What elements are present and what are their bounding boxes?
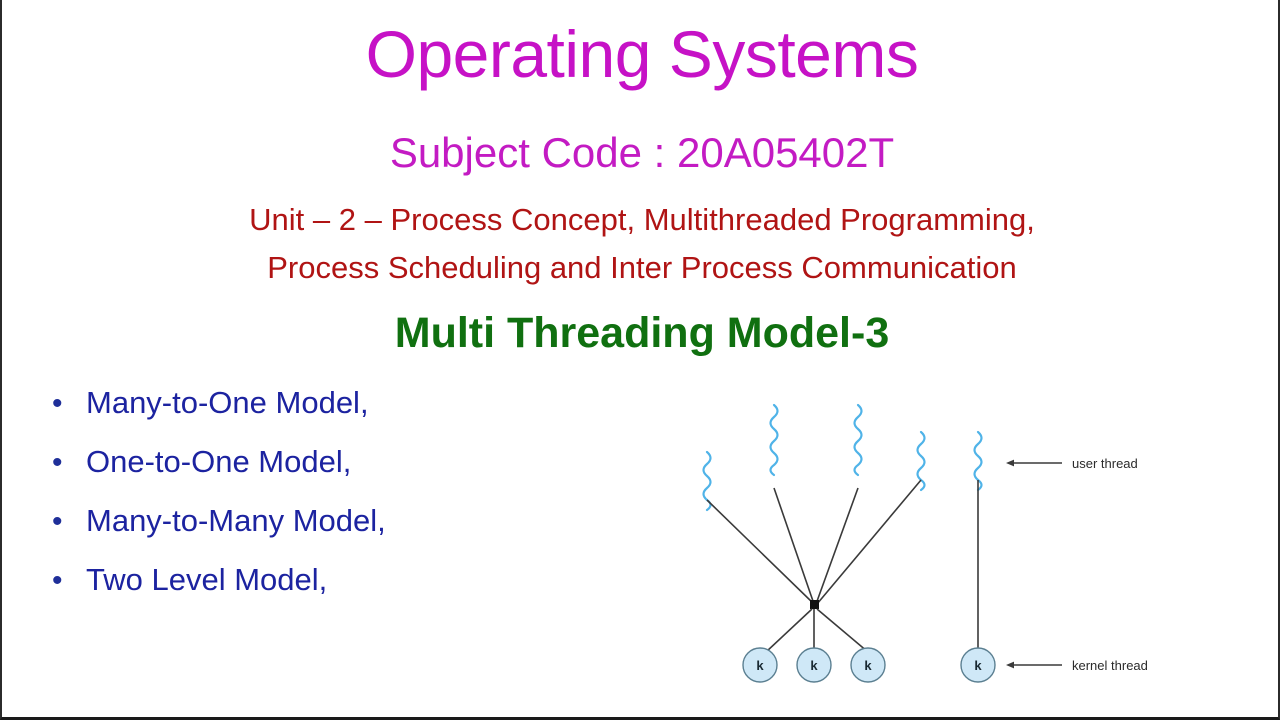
user-thread-stem-1 [707,500,814,604]
user-thread-stem-4 [817,480,921,604]
list-item-label: Many-to-One Model, [86,383,369,423]
user-thread-squiggles [704,405,982,510]
kernel-thread-arrow-head [1006,662,1014,669]
kernel-thread-nodes: k k k k [743,648,995,682]
kernel-link-3 [817,609,868,652]
user-thread-arrow-head [1006,460,1014,467]
list-item-label: One-to-One Model, [86,442,351,482]
user-thread-legend-label: user thread [1072,456,1138,471]
kernel-thread-links [766,609,868,652]
subject-code: Subject Code : 20A05402T [2,128,1280,178]
kernel-link-1 [766,609,812,652]
list-item-label: Many-to-Many Model, [86,501,386,541]
multiplex-junction [810,600,819,609]
bullet-icon: • [40,561,86,601]
unit-subtitle-line-1: Unit – 2 – Process Concept, Multithreade… [2,196,1280,244]
kernel-thread-node: k [851,648,885,682]
bullet-icon: • [40,502,86,542]
user-thread-stem-3 [816,488,858,604]
kernel-node-label-1: k [756,658,764,673]
unit-subtitle-line-2: Process Scheduling and Inter Process Com… [2,244,1280,292]
user-thread-squiggle-3 [855,405,862,475]
kernel-thread-node: k [797,648,831,682]
list-item: • Many-to-One Model, [40,383,600,442]
bullet-icon: • [40,443,86,483]
list-item: • Many-to-Many Model, [40,501,600,560]
model-heading: Multi Threading Model-3 [2,305,1280,361]
legend-arrows [1006,460,1062,669]
list-item: • One-to-One Model, [40,442,600,501]
user-thread-stem-2 [774,488,814,604]
bullet-icon: • [40,384,86,424]
threading-model-diagram: k k k k [662,380,1182,710]
user-thread-squiggle-4 [918,432,925,490]
kernel-thread-node: k [743,648,777,682]
user-thread-stems [707,480,921,604]
model-list: • Many-to-One Model, • One-to-One Model,… [40,383,600,619]
unit-subtitle: Unit – 2 – Process Concept, Multithreade… [2,196,1280,292]
kernel-node-label-4: k [974,658,982,673]
kernel-node-label-2: k [810,658,818,673]
user-thread-squiggle-2 [771,405,778,475]
kernel-thread-node: k [961,648,995,682]
list-item: • Two Level Model, [40,560,600,619]
slide-canvas: Operating Systems Subject Code : 20A0540… [0,0,1280,720]
kernel-thread-legend-label: kernel thread [1072,658,1148,673]
page-title: Operating Systems [2,16,1280,92]
kernel-node-label-3: k [864,658,872,673]
list-item-label: Two Level Model, [86,560,327,600]
